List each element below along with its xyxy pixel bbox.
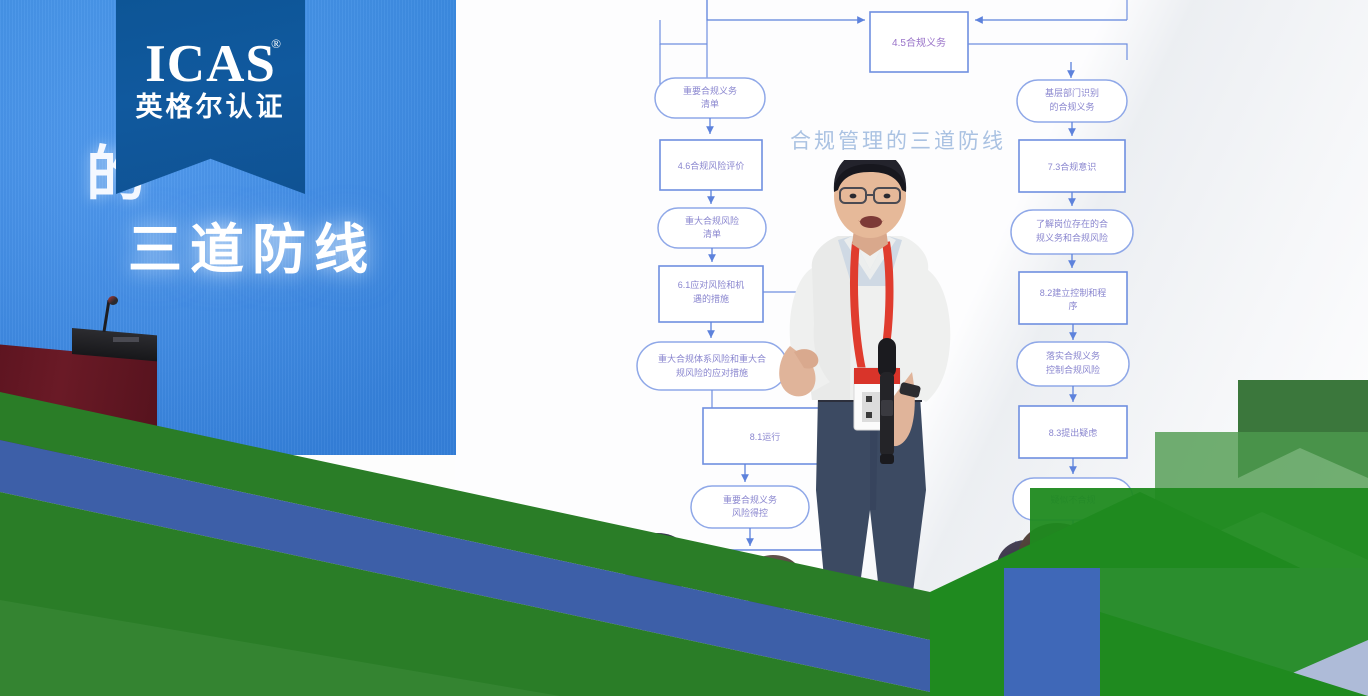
- podium-device-screen: [113, 337, 139, 342]
- svg-text:重大合规风险: 重大合规风险: [685, 215, 739, 226]
- stripe-green-highlight: [0, 600, 560, 696]
- presenter: [760, 160, 990, 610]
- svg-text:合规管理的三道防线: 合规管理的三道防线: [790, 130, 1006, 153]
- svg-text:的合规义务: 的合规义务: [1049, 101, 1094, 112]
- screenshot-stage: 的 三道防线 ICAS ® 英格尔认证 .nd { fill:#ffffff; …: [0, 0, 1368, 696]
- audience-head: [624, 533, 692, 593]
- svg-text:落实合规义务: 落实合规义务: [1046, 350, 1100, 361]
- svg-text:遇的措施: 遇的措施: [693, 293, 729, 304]
- registered-trademark-icon: ®: [271, 36, 281, 52]
- svg-text:4.6合规风险评价: 4.6合规风险评价: [678, 160, 745, 171]
- audience-head: [1018, 523, 1096, 589]
- svg-text:重要合规义务: 重要合规义务: [683, 85, 737, 96]
- svg-text:4.5合规义务: 4.5合规义务: [892, 36, 946, 49]
- svg-text:8.3提出疑虑: 8.3提出疑虑: [1049, 427, 1098, 438]
- svg-text:控制合规风险: 控制合规风险: [1046, 364, 1100, 375]
- svg-text:7.3合规意识: 7.3合规意识: [1048, 161, 1097, 172]
- svg-text:清单: 清单: [703, 228, 721, 239]
- svg-text:规风险的应对措施: 规风险的应对措施: [676, 367, 748, 378]
- svg-text:6.1应对风险和机: 6.1应对风险和机: [678, 279, 745, 290]
- svg-text:清单: 清单: [701, 98, 719, 109]
- icas-chinese-name: 英格尔认证: [116, 94, 305, 121]
- podium-microphone-head-icon: [108, 296, 118, 305]
- svg-text:了解岗位存在的合: 了解岗位存在的合: [1036, 218, 1108, 229]
- svg-text:重大合规体系风险和重大合: 重大合规体系风险和重大合: [658, 353, 766, 364]
- svg-text:序: 序: [1068, 300, 1077, 311]
- svg-text:疑似不合规: 疑似不合规: [1050, 494, 1095, 505]
- podium: [0, 344, 157, 463]
- svg-text:基层部门识别: 基层部门识别: [1045, 87, 1099, 98]
- svg-text:8.2建立控制和程: 8.2建立控制和程: [1040, 287, 1107, 298]
- led-headline-line2: 三道防线: [128, 205, 376, 284]
- svg-text:规义务和合规风险: 规义务和合规风险: [1036, 232, 1108, 243]
